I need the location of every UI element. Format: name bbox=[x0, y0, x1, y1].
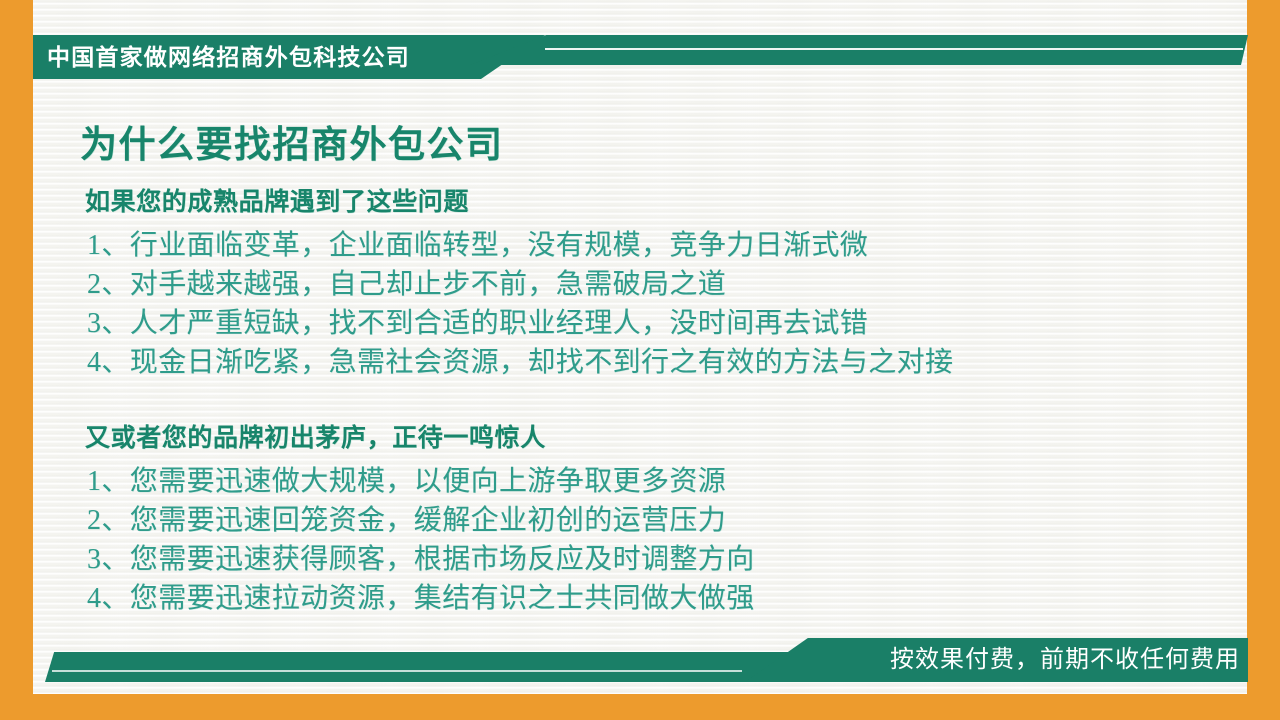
slide: 中国首家做网络招商外包科技公司 为什么要找招商外包公司 如果您的成熟品牌遇到了这… bbox=[0, 0, 1280, 720]
list-item: 4、现金日渐吃紧，急需社会资源，却找不到行之有效的方法与之对接 bbox=[87, 343, 1225, 382]
section-heading-mature-brand: 如果您的成熟品牌遇到了这些问题 bbox=[85, 182, 1225, 218]
page-title: 为什么要找招商外包公司 bbox=[80, 114, 504, 168]
new-brand-section: 又或者您的品牌初出茅庐，正待一鸣惊人 1、您需要迅速做大规模，以便向上游争取更多… bbox=[85, 418, 1225, 618]
list-item: 2、您需要迅速回笼资金，缓解企业初创的运营压力 bbox=[87, 501, 1225, 540]
list-item: 3、人才严重短缺，找不到合适的职业经理人，没时间再去试错 bbox=[87, 304, 1225, 343]
list-item: 1、行业面临变革，企业面临转型，没有规模，竞争力日渐式微 bbox=[87, 226, 1225, 265]
list-item: 2、对手越来越强，自己却止步不前，急需破局之道 bbox=[87, 265, 1225, 304]
list-item: 3、您需要迅速获得顾客，根据市场反应及时调整方向 bbox=[87, 540, 1225, 579]
problem-section: 如果您的成熟品牌遇到了这些问题 1、行业面临变革，企业面临转型，没有规模，竞争力… bbox=[85, 182, 1225, 382]
section-heading-new-brand: 又或者您的品牌初出茅庐，正待一鸣惊人 bbox=[85, 418, 1225, 454]
list-item: 4、您需要迅速拉动资源，集结有识之士共同做大做强 bbox=[87, 579, 1225, 618]
new-brand-list: 1、您需要迅速做大规模，以便向上游争取更多资源 2、您需要迅速回笼资金，缓解企业… bbox=[85, 462, 1225, 618]
list-item: 1、您需要迅速做大规模，以便向上游争取更多资源 bbox=[87, 462, 1225, 501]
mature-brand-list: 1、行业面临变革，企业面临转型，没有规模，竞争力日渐式微 2、对手越来越强，自己… bbox=[85, 226, 1225, 382]
